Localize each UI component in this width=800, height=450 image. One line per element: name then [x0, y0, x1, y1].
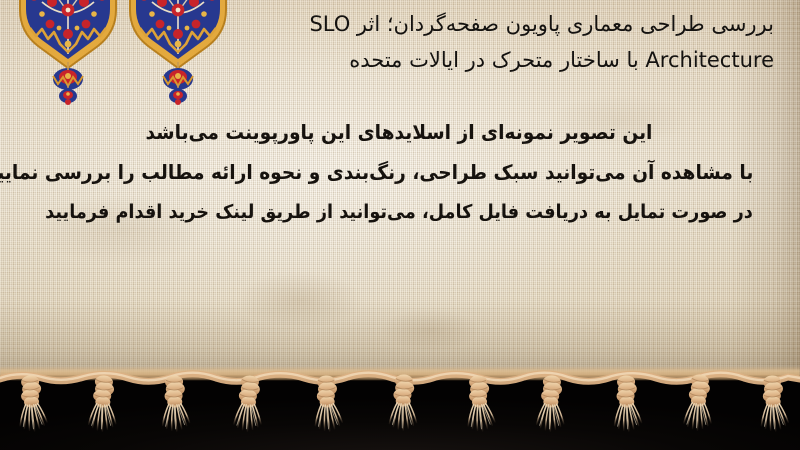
- slide-body: این تصویر نمونه‌ای از اسلایدهای این پاور…: [45, 112, 754, 232]
- title-line-1: بررسی طراحی معماری پاویون صفحه‌گردان؛ اث…: [214, 6, 774, 42]
- text-layer: بررسی طراحی معماری پاویون صفحه‌گردان؛ اث…: [0, 0, 800, 382]
- body-line-3: در صورت تمایل به دریافت فایل کامل، می‌تو…: [45, 192, 754, 232]
- carpet-fringe: [0, 366, 800, 450]
- title-line-2: Architecture با ساختار متحرک در ایالات م…: [214, 42, 774, 78]
- slide-canvas: بررسی طراحی معماری پاویون صفحه‌گردان؛ اث…: [0, 0, 800, 450]
- slide-title: بررسی طراحی معماری پاویون صفحه‌گردان؛ اث…: [214, 6, 774, 78]
- body-line-2: با مشاهده آن می‌توانید سبک طراحی، رنگ‌بن…: [45, 152, 754, 192]
- fringe-tassels-svg: [0, 366, 800, 450]
- body-line-1: این تصویر نمونه‌ای از اسلایدهای این پاور…: [45, 112, 754, 152]
